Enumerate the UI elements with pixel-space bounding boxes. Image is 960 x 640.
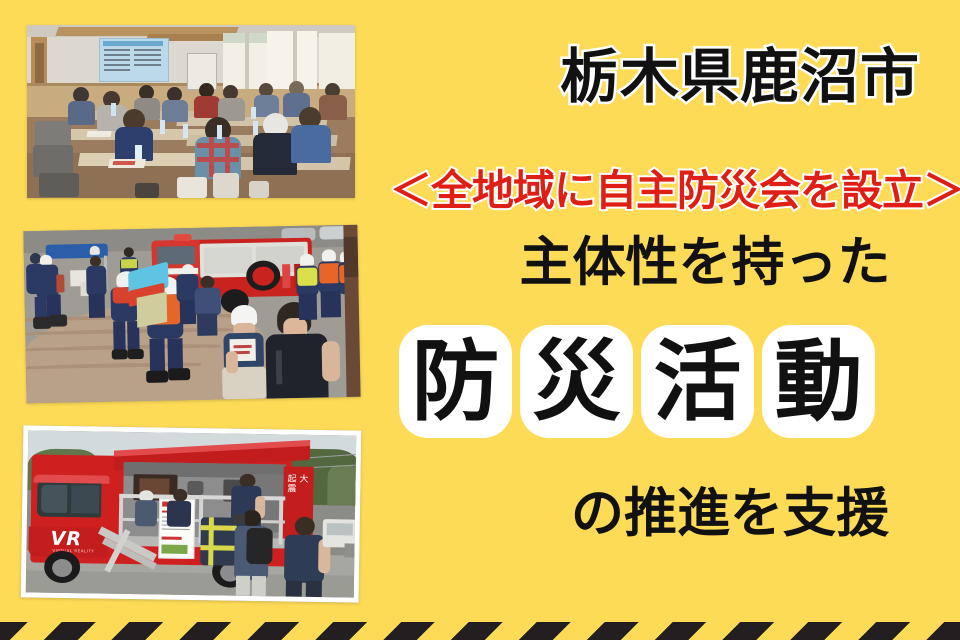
page-title: 栃木県鹿沼市 bbox=[560, 47, 920, 106]
boxed-keyword-row: 防 災 活 動 bbox=[399, 325, 875, 438]
headline-city-text: 栃木県鹿沼市 bbox=[560, 42, 920, 111]
photo-seminar bbox=[27, 25, 355, 198]
line-support: の推進を支援 bbox=[510, 487, 950, 540]
boxed-char-4: 動 bbox=[762, 325, 875, 438]
photo-seminar-scene bbox=[27, 25, 355, 198]
boxed-char-2: 災 bbox=[520, 325, 633, 438]
boxed-char-1: 防 bbox=[399, 325, 512, 438]
boxed-char-3: 活 bbox=[641, 325, 754, 438]
hazard-stripe-footer bbox=[0, 622, 960, 640]
photo-drill-scene bbox=[23, 225, 360, 403]
photo-drill bbox=[23, 225, 360, 403]
poster-canvas: VR VIRTUAL REALITY 起 大 震 bbox=[0, 0, 960, 640]
subheading-red: ＜全地域に自主防災会を設立＞ bbox=[390, 170, 940, 212]
photo-vr-truck: VR VIRTUAL REALITY 起 大 震 bbox=[21, 425, 362, 602]
photo-vr-truck-scene: VR VIRTUAL REALITY 起 大 震 bbox=[26, 430, 357, 597]
line-initiative: 主体性を持った bbox=[470, 236, 940, 289]
